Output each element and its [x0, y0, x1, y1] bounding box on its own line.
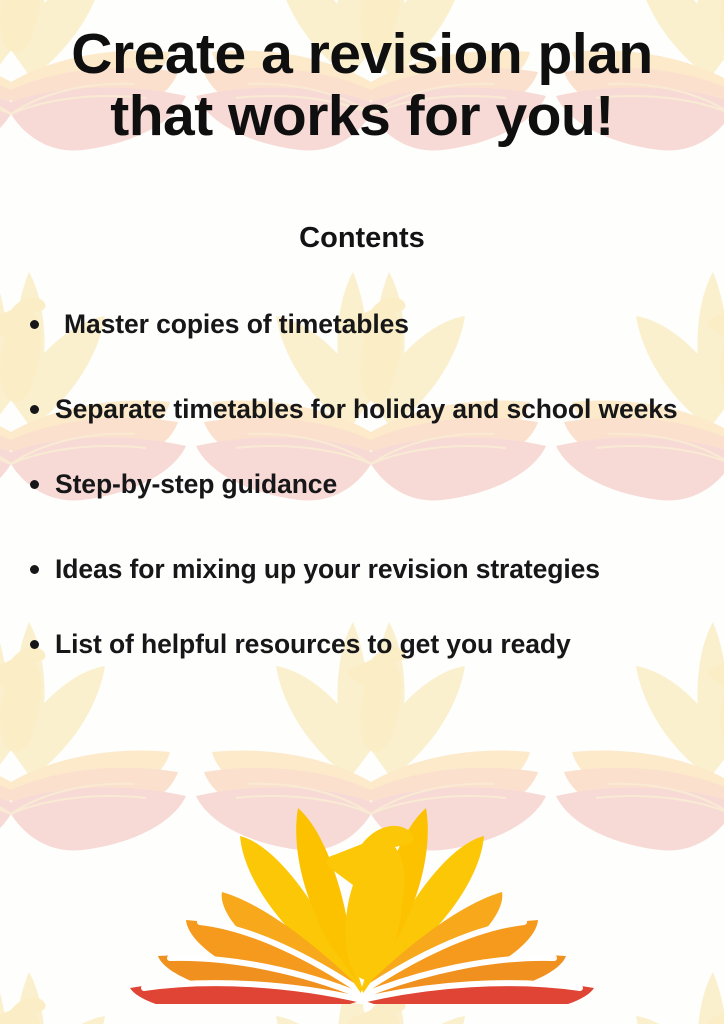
bullet-dot-icon [30, 405, 39, 414]
page-title: Create a revision plan that works for yo… [18, 24, 706, 147]
phoenix-book-logo-icon [112, 792, 612, 1004]
title-line-2: that works for you! [110, 84, 614, 148]
list-item-text: Master copies of timetables [64, 309, 409, 339]
list-item: Master copies of timetables [22, 303, 722, 346]
bullet-dot-icon [30, 320, 39, 329]
poster-content: Create a revision plan that works for yo… [0, 0, 724, 1024]
title-line-1: Create a revision plan [71, 22, 652, 86]
bullet-dot-icon [30, 565, 39, 574]
poster-page: Create a revision plan that works for yo… [0, 0, 724, 1024]
bullet-dot-icon [30, 480, 39, 489]
contents-list: Master copies of timetables Separate tim… [22, 303, 722, 666]
list-item-text: Ideas for mixing up your revision strate… [55, 554, 600, 584]
contents-heading: Contents [0, 222, 724, 255]
list-item-text: List of helpful resources to get you rea… [55, 629, 571, 659]
list-item: Ideas for mixing up your revision strate… [22, 548, 722, 591]
list-item-text: Step-by-step guidance [55, 469, 337, 499]
list-item: Step-by-step guidance [22, 463, 722, 506]
bullet-dot-icon [30, 640, 39, 649]
list-item: List of helpful resources to get you rea… [22, 623, 722, 666]
list-item-text: Separate timetables for holiday and scho… [55, 394, 678, 424]
list-item: Separate timetables for holiday and scho… [22, 388, 722, 431]
